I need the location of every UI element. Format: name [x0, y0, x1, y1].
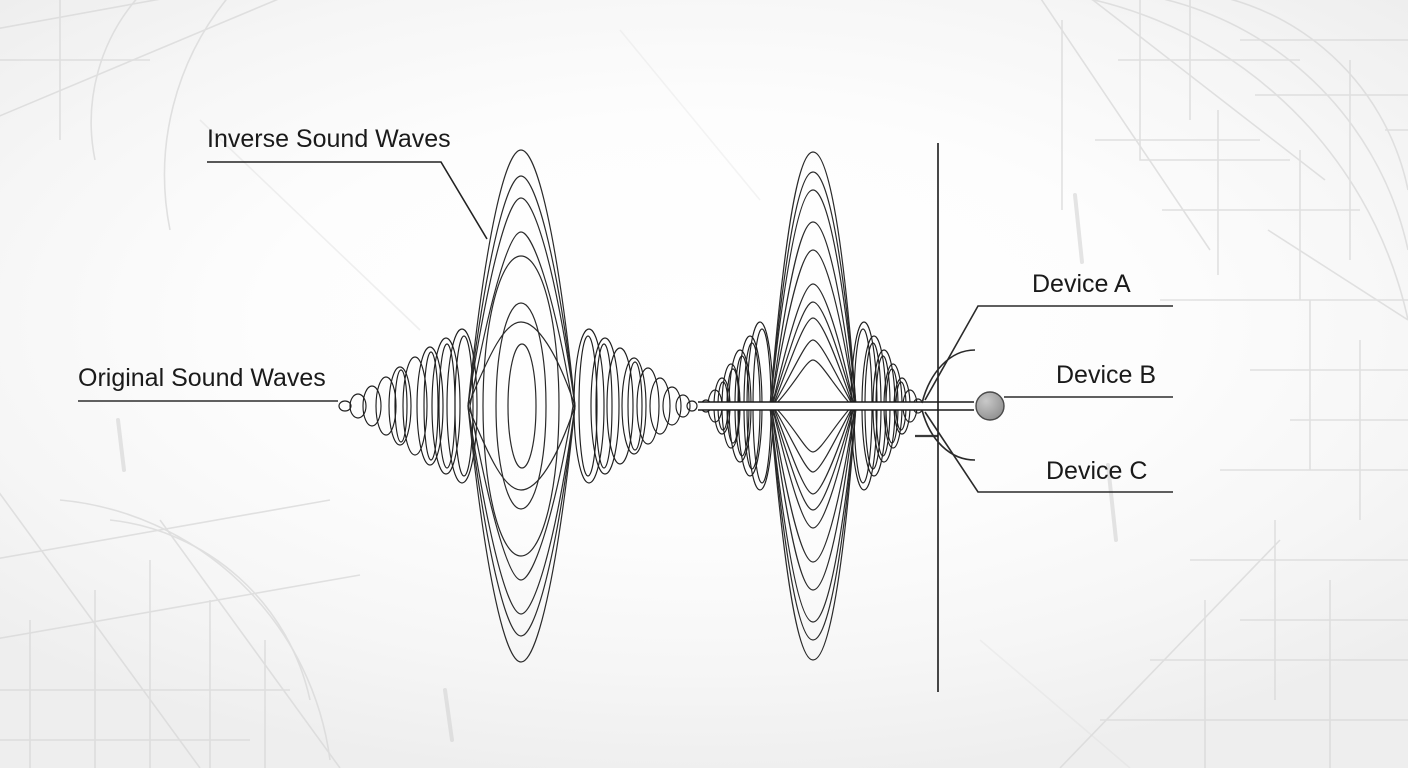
wave-axis-line — [698, 402, 974, 410]
device-b-label: Device B — [1056, 361, 1156, 390]
microphone-sphere-icon — [976, 392, 1004, 420]
device-c-label: Device C — [1046, 457, 1147, 486]
inverse-sound-waves-label: Inverse Sound Waves — [207, 125, 451, 154]
device-a-label: Device A — [1032, 270, 1131, 299]
diagram-stage: Original Sound Waves Inverse Sound Waves… — [0, 0, 1408, 768]
original-wave-group — [339, 329, 477, 483]
original-sound-waves-label: Original Sound Waves — [78, 364, 326, 393]
original-wave-trailing-group — [574, 329, 697, 483]
inverse-wave-group — [468, 150, 575, 662]
inverse-label-leader — [207, 162, 487, 239]
